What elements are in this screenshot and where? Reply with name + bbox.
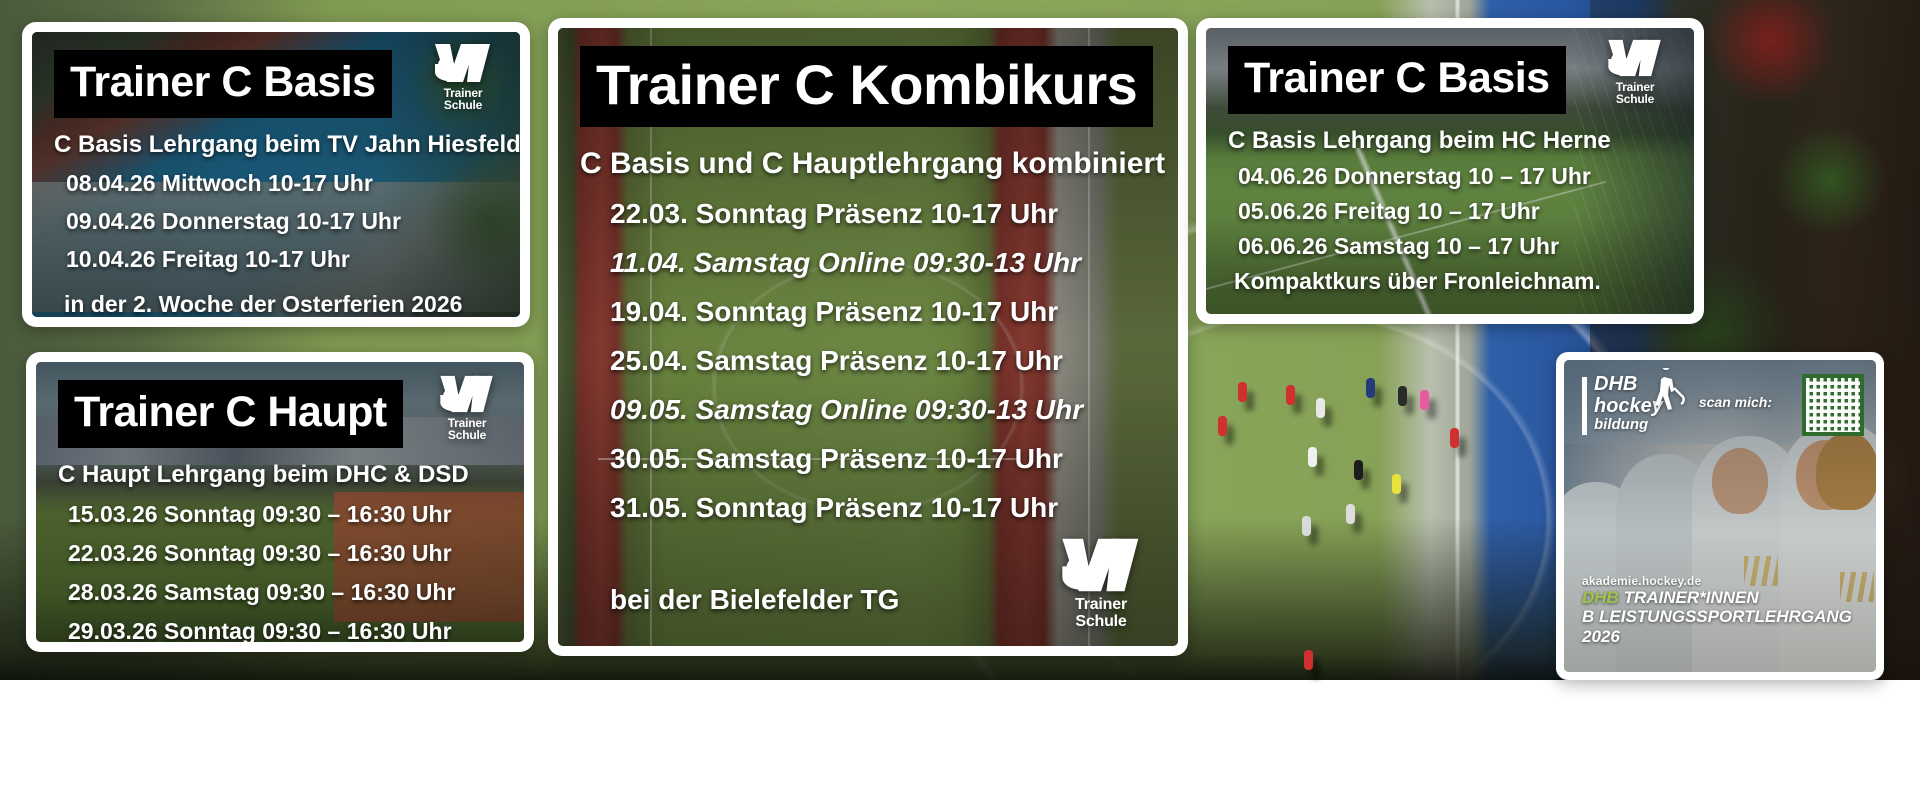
trainer-schule-mark-icon xyxy=(1606,38,1664,78)
dhb-hockey-bildung-logo: DHB hockey bildung xyxy=(1582,374,1663,434)
coach-hair xyxy=(1816,432,1876,510)
qr-code-pattern xyxy=(1806,378,1860,432)
pitch-player xyxy=(1392,474,1401,494)
pitch-player xyxy=(1346,504,1355,524)
trainer-schule-mark-icon xyxy=(433,42,493,84)
card-subtitle: C Basis und C Hauptlehrgang kombiniert xyxy=(580,147,1156,181)
pitch-player xyxy=(1420,390,1429,410)
pitch-player xyxy=(1308,447,1317,467)
date-line-online: 11.04. Samstag Online 09:30-13 Uhr xyxy=(580,247,1156,279)
dhb-logo-line3: bildung xyxy=(1594,417,1663,434)
trainer-schule-logo: Trainer Schule xyxy=(420,42,506,111)
date-line: 30.05. Samstag Präsenz 10-17 Uhr xyxy=(580,443,1156,475)
date-line: 22.03.26 Sonntag 09:30 – 16:30 Uhr xyxy=(58,540,502,567)
dhb-headline: DHB TRAINER*INNEN xyxy=(1582,588,1852,607)
trainer-schule-line2: Schule xyxy=(1592,93,1678,105)
pitch-player xyxy=(1286,385,1295,405)
pitch-player xyxy=(1218,416,1227,436)
card-photo-herne: Trainer Schule Trainer C Basis C Basis L… xyxy=(1206,28,1694,314)
poster-collage: Trainer Schule Trainer C Basis C Basis L… xyxy=(0,0,1920,792)
card-title: Trainer C Kombikurs xyxy=(580,46,1153,127)
logo-lines: DHB hockey bildung xyxy=(1582,374,1663,434)
date-line: 05.06.26 Freitag 10 – 17 Uhr xyxy=(1228,198,1672,225)
coach-head xyxy=(1712,448,1768,514)
trainer-schule-line2: Schule xyxy=(420,99,506,111)
logo-bar xyxy=(1582,377,1587,435)
trainer-schule-line2: Schule xyxy=(424,429,510,441)
pitch-player xyxy=(1304,650,1313,670)
pitch-player xyxy=(1398,386,1407,406)
card-title: Trainer C Haupt xyxy=(58,380,403,448)
date-line: 22.03. Sonntag Präsenz 10-17 Uhr xyxy=(580,198,1156,230)
trainer-schule-logo: Trainer Schule xyxy=(1046,536,1156,630)
date-line-online: 09.05. Samstag Online 09:30-13 Uhr xyxy=(580,394,1156,426)
date-line: 15.03.26 Sonntag 09:30 – 16:30 Uhr xyxy=(58,501,502,528)
dhb-headline-accent: DHB xyxy=(1582,588,1619,607)
course-card-trainer-c-haupt-dhc-dsd[interactable]: Trainer Schule Trainer C Haupt C Haupt L… xyxy=(26,352,534,652)
date-line: 19.04. Sonntag Präsenz 10-17 Uhr xyxy=(580,296,1156,328)
card-title: Trainer C Basis xyxy=(1228,46,1566,114)
pitch-player xyxy=(1302,516,1311,536)
promo-card-dhb-hockey-bildung[interactable]: DHB hockey bildung scan mich: akademie.h… xyxy=(1556,352,1884,680)
card-photo-bielefeld: Trainer Schule Trainer C Kombikurs C Bas… xyxy=(558,28,1178,646)
trainer-schule-mark-icon xyxy=(1059,536,1143,594)
card-photo-dhb-coaches: DHB hockey bildung scan mich: akademie.h… xyxy=(1564,360,1876,672)
course-card-trainer-c-basis-hc-herne[interactable]: Trainer Schule Trainer C Basis C Basis L… xyxy=(1196,18,1704,324)
date-line: 08.04.26 Mittwoch 10-17 Uhr xyxy=(54,170,498,197)
trainer-schule-mark-icon xyxy=(438,374,496,414)
pitch-player xyxy=(1450,428,1459,448)
pitch-player xyxy=(1354,460,1363,480)
date-line: 31.05. Sonntag Präsenz 10-17 Uhr xyxy=(580,492,1156,524)
date-list: 04.06.26 Donnerstag 10 – 17 Uhr 05.06.26… xyxy=(1228,163,1672,260)
dhb-headline-line2: B LEISTUNGSSPORTLEHRGANG xyxy=(1582,607,1852,626)
date-line: 06.06.26 Samstag 10 – 17 Uhr xyxy=(1228,233,1672,260)
dhb-caption: akademie.hockey.de DHB TRAINER*INNEN B L… xyxy=(1582,574,1852,646)
card-content: Trainer C Kombikurs C Basis und C Hauptl… xyxy=(558,28,1178,616)
trainer-schule-logo: Trainer Schule xyxy=(424,374,510,441)
date-line: 25.04. Samstag Präsenz 10-17 Uhr xyxy=(580,345,1156,377)
card-title: Trainer C Basis xyxy=(54,50,392,118)
course-card-trainer-c-basis-hiesfeld[interactable]: Trainer Schule Trainer C Basis C Basis L… xyxy=(22,22,530,327)
pitch-player xyxy=(1316,398,1325,418)
pitch-player xyxy=(1366,378,1375,398)
course-card-trainer-c-kombikurs-bielefelder-tg[interactable]: Trainer Schule Trainer C Kombikurs C Bas… xyxy=(548,18,1188,656)
card-subtitle: C Haupt Lehrgang beim DHC & DSD xyxy=(58,461,502,489)
trainer-schule-line1: Trainer xyxy=(1046,597,1156,613)
card-footnote: in der 2. Woche der Osterferien 2026 xyxy=(54,291,498,317)
dhb-headline-rest: TRAINER*INNEN xyxy=(1619,588,1759,607)
date-line: 28.03.26 Samstag 09:30 – 16:30 Uhr xyxy=(58,579,502,606)
scan-label: scan mich: xyxy=(1699,394,1772,410)
dhb-headline-line3: 2026 xyxy=(1582,627,1852,646)
date-line: 09.04.26 Donnerstag 10-17 Uhr xyxy=(54,208,498,235)
hockey-player-icon xyxy=(1652,368,1686,418)
qr-code[interactable] xyxy=(1802,374,1864,436)
date-list: 22.03. Sonntag Präsenz 10-17 Uhr 11.04. … xyxy=(580,198,1156,524)
card-photo-dhc: Trainer Schule Trainer C Haupt C Haupt L… xyxy=(36,362,524,642)
date-line: 10.04.26 Freitag 10-17 Uhr xyxy=(54,246,498,273)
card-photo-hiesfeld: Trainer Schule Trainer C Basis C Basis L… xyxy=(32,32,520,317)
pitch-player xyxy=(1238,382,1247,402)
card-subtitle: C Basis Lehrgang beim HC Herne xyxy=(1228,127,1672,155)
date-list: 08.04.26 Mittwoch 10-17 Uhr 09.04.26 Don… xyxy=(54,170,498,273)
date-line: 29.03.26 Sonntag 09:30 – 16:30 Uhr xyxy=(58,618,502,642)
trainer-schule-logo: Trainer Schule xyxy=(1592,38,1678,105)
date-list: 15.03.26 Sonntag 09:30 – 16:30 Uhr 22.03… xyxy=(58,501,502,642)
date-line: 04.06.26 Donnerstag 10 – 17 Uhr xyxy=(1228,163,1672,190)
card-footnote: Kompaktkurs über Fronleichnam. xyxy=(1228,268,1672,295)
trainer-schule-line2: Schule xyxy=(1046,614,1156,630)
dhb-site-url: akademie.hockey.de xyxy=(1582,574,1852,588)
card-subtitle: C Basis Lehrgang beim TV Jahn Hiesfeld xyxy=(54,131,498,159)
